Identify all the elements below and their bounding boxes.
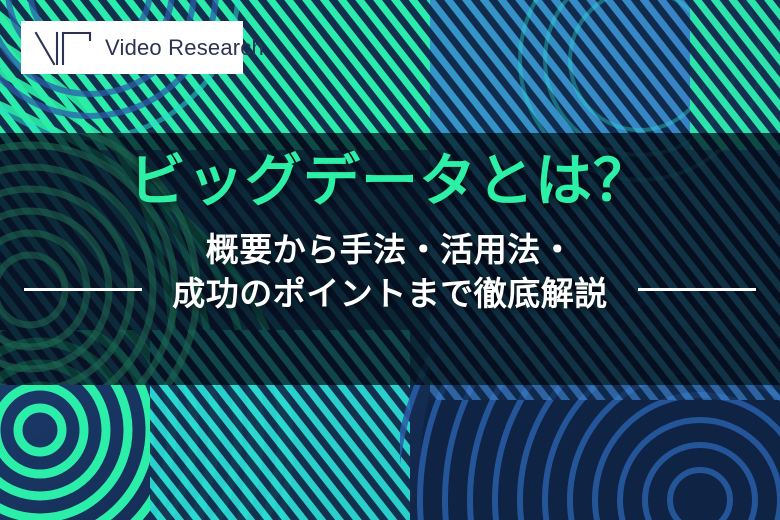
subtitle-rule-left <box>24 288 142 291</box>
top-right-green-stripes <box>690 0 780 150</box>
background-pattern <box>0 0 780 520</box>
logo-box[interactable]: Video Research <box>21 21 243 74</box>
video-research-logo-icon <box>33 28 97 68</box>
logo-wordmark: Video Research <box>105 35 264 61</box>
subtitle-rule-right <box>638 288 756 291</box>
bottom-left-diagonals <box>150 330 410 520</box>
banner-image: Video Research ビッグデータとは？ 概要から手法・活用法・ 成功の… <box>0 0 780 520</box>
